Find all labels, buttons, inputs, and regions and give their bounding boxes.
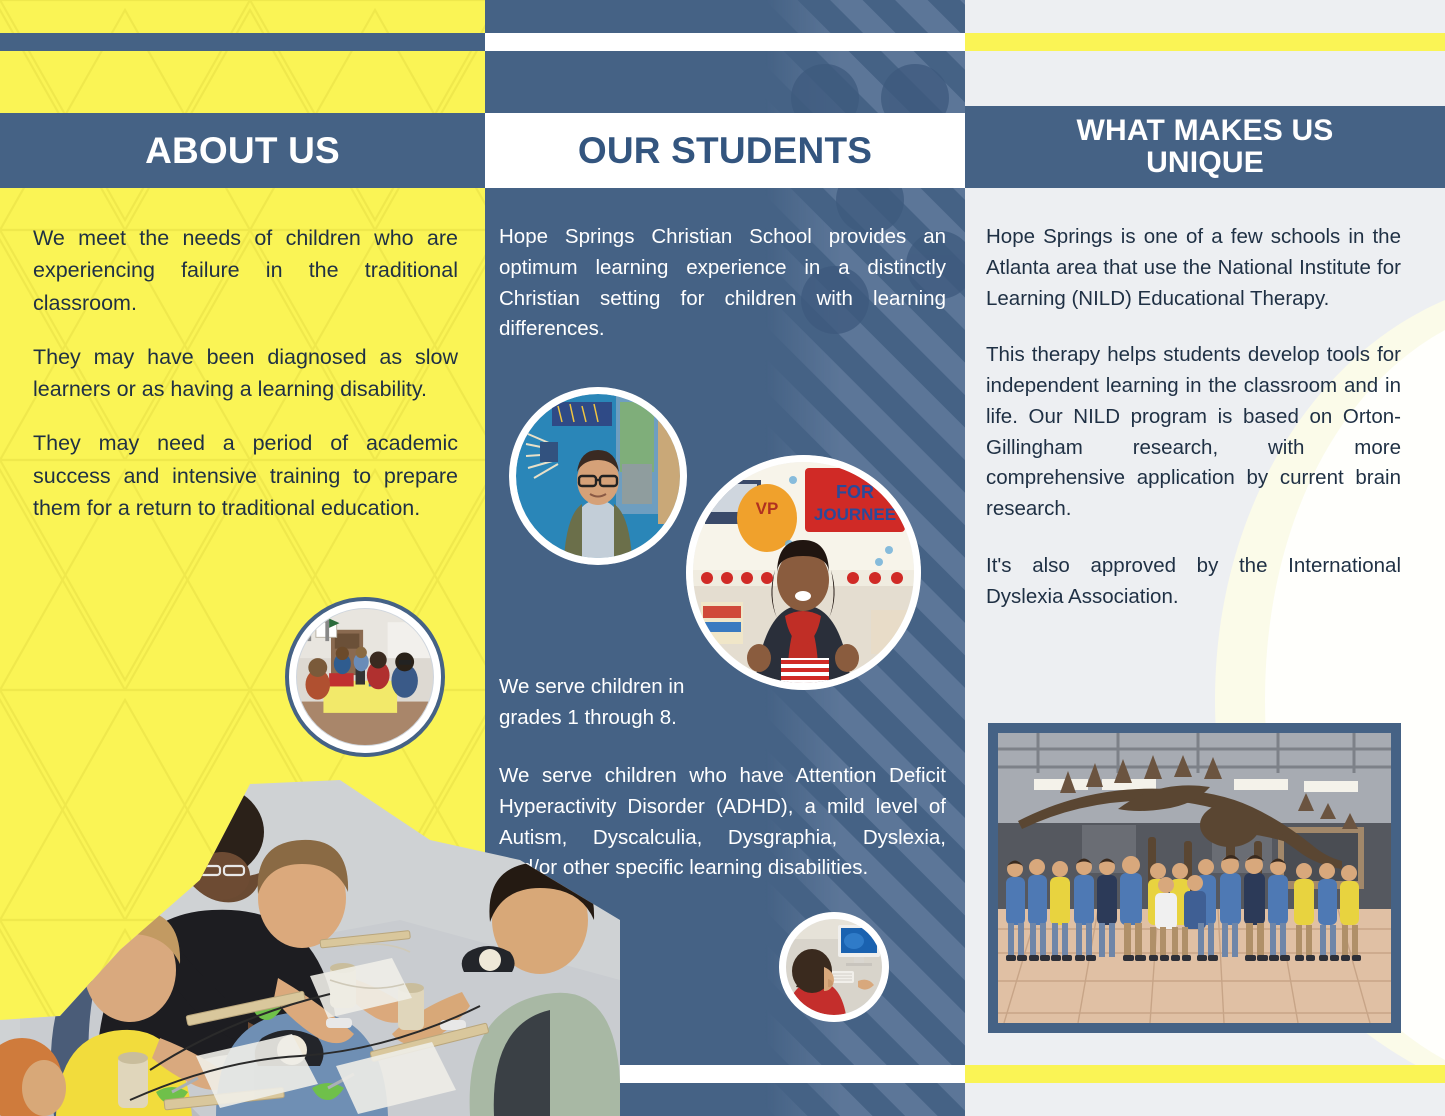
unique-heading-line-2: UNIQUE [1076, 147, 1333, 179]
what-makes-us-unique-heading: WHAT MAKES US UNIQUE [965, 106, 1445, 188]
craft-activity-photo-image [0, 770, 620, 1116]
unique-paragraph-1: Hope Springs is one of a few schools in … [986, 222, 1401, 314]
student-class-president-photo-image: FOR JOURNEE VP [693, 462, 914, 683]
craft-activity-photo [0, 770, 620, 1116]
unique-paragraph-2: This therapy helps students develop tool… [986, 340, 1401, 525]
about-paragraph-3: They may need a period of academic succe… [33, 427, 458, 524]
about-paragraph-1: We meet the needs of children who are ex… [33, 222, 458, 319]
student-class-president-photo: FOR JOURNEE VP [686, 455, 921, 690]
our-students-heading-text: OUR STUDENTS [578, 130, 872, 172]
students-top-accent-bar [485, 33, 965, 51]
student-at-computer-photo [779, 912, 889, 1022]
svg-text:JOURNEE: JOURNEE [814, 505, 896, 524]
unique-paragraph-3: It's also approved by the International … [986, 551, 1401, 613]
svg-text:VP: VP [756, 499, 779, 518]
student-with-backpack-photo [509, 387, 687, 565]
student-with-backpack-photo-image [516, 394, 680, 558]
about-us-heading: ABOUT US [0, 113, 485, 188]
about-us-heading-text: ABOUT US [145, 130, 340, 172]
students-intro-text: Hope Springs Christian School provides a… [499, 222, 946, 345]
student-at-computer-photo-image [786, 919, 882, 1015]
students-grades-text: We serve children in grades 1 through 8. [499, 672, 729, 734]
museum-field-trip-photo [988, 723, 1401, 1033]
our-students-heading: OUR STUDENTS [485, 113, 965, 188]
about-paragraph-2: They may have been diagnosed as slow lea… [33, 341, 458, 406]
unique-heading-line-1: WHAT MAKES US [1076, 115, 1333, 147]
museum-field-trip-photo-image [998, 733, 1391, 1023]
about-us-body-text: We meet the needs of children who are ex… [33, 222, 458, 524]
brochure-page: ABOUT US OUR STUDENTS WHAT MAKES US UNIQ… [0, 0, 1445, 1116]
students-paragraph-1: Hope Springs Christian School provides a… [499, 222, 946, 345]
svg-text:FOR: FOR [836, 482, 874, 502]
unique-body-text: Hope Springs is one of a few schools in … [986, 222, 1401, 638]
classroom-lunch-photo-image [297, 609, 433, 745]
unique-bottom-accent-bar [965, 1065, 1445, 1083]
unique-top-accent-bar [965, 33, 1445, 51]
about-top-accent-bar [0, 33, 485, 51]
students-grades-paragraph: We serve children in grades 1 through 8. [499, 672, 729, 734]
classroom-lunch-photo [285, 597, 445, 757]
